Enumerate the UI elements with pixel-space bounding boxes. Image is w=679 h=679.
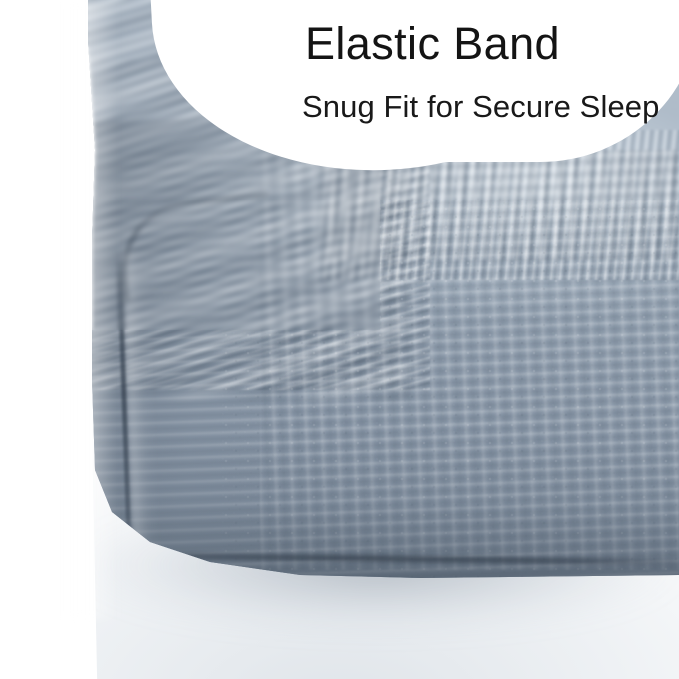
left-edge-softener xyxy=(60,0,118,620)
subheadline-text: Snug Fit for Secure Sleep xyxy=(302,88,659,125)
headline-text: Elastic Band xyxy=(305,18,560,70)
product-image-canvas: Elastic Band Snug Fit for Secure Sleep xyxy=(0,0,679,679)
